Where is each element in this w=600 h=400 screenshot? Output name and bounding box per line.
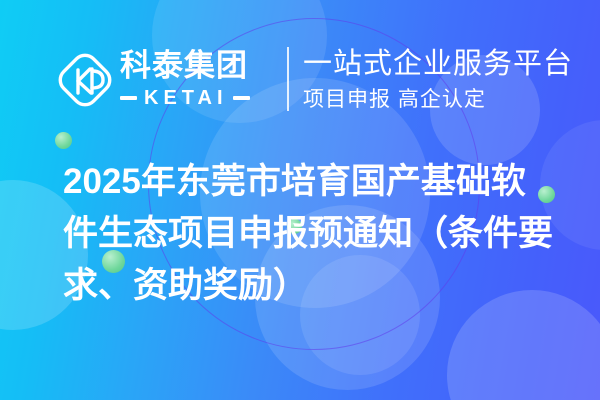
header-divider bbox=[287, 47, 289, 111]
brand-name-en: KETAI bbox=[144, 87, 228, 110]
brand-wordmark: 科泰集团 KETAI bbox=[120, 50, 250, 110]
tagline-secondary: 项目申报 高企认定 bbox=[303, 87, 573, 112]
brand-header: 科泰集团 KETAI bbox=[56, 44, 250, 116]
ketai-diamond-logo-icon bbox=[56, 48, 114, 112]
banner-title: 2025年东莞市培育国产基础软件生态项目申报预通知（条件要求、资助奖励） bbox=[63, 156, 559, 312]
tagline-primary: 一站式企业服务平台 bbox=[303, 48, 573, 81]
brand-name-en-row: KETAI bbox=[120, 87, 250, 110]
brand-tagline: 一站式企业服务平台 项目申报 高企认定 bbox=[303, 44, 573, 116]
promo-banner: 科泰集团 KETAI 一站式企业服务平台 项目申报 高企认定 2025年东莞市培… bbox=[0, 0, 600, 400]
green-dot-decor bbox=[55, 132, 72, 149]
dash-left-decor bbox=[120, 96, 137, 100]
brand-name-cn: 科泰集团 bbox=[120, 50, 250, 83]
dash-right-decor bbox=[233, 96, 250, 100]
